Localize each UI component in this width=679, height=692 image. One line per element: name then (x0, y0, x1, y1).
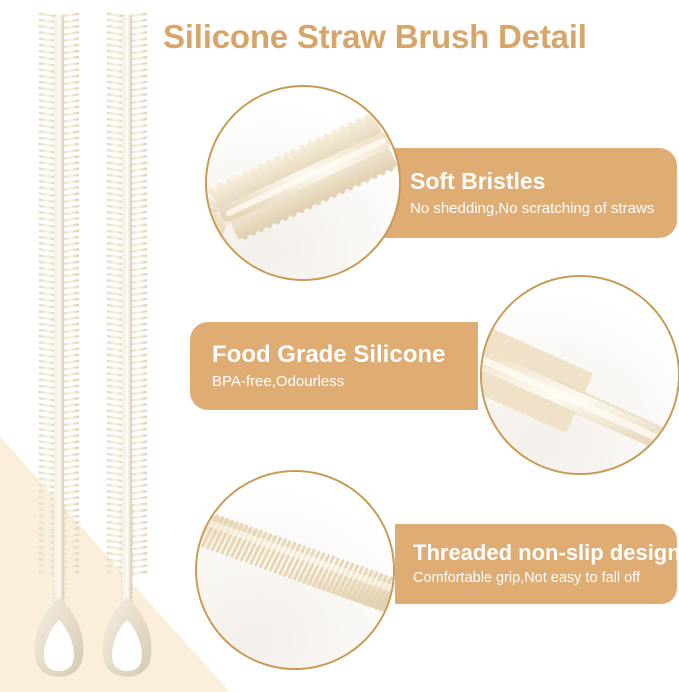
feature-title: Food Grade Silicone (212, 342, 478, 368)
feature-photo-food-grade-silicone (482, 277, 678, 473)
feature-banner-threaded-non-slip-design: Threaded non-slip design Comfortable gri… (395, 524, 677, 604)
feature-title: Threaded non-slip design (413, 541, 677, 565)
feature-banner-soft-bristles: Soft Bristles No shedding,No scratching … (372, 148, 677, 238)
product-infographic: Silicone Straw Brush Detail (0, 0, 679, 692)
feature-photo-soft-bristles (207, 87, 399, 279)
photo-canvas (197, 472, 393, 668)
product-brush-right (82, 6, 172, 686)
feature-subtitle: BPA-free,Odourless (212, 373, 478, 390)
photo-canvas (482, 277, 678, 473)
feature-title: Soft Bristles (410, 169, 677, 194)
feature-photo-threaded-non-slip-design (197, 472, 393, 668)
bristle-handle-transition-illustration (482, 277, 678, 473)
bristle-head-illustration (207, 87, 399, 279)
photo-canvas (207, 87, 399, 279)
threaded-handle-illustration (197, 472, 393, 668)
page-title: Silicone Straw Brush Detail (163, 18, 679, 57)
feature-subtitle: Comfortable grip,Not easy to fall off (413, 570, 677, 587)
feature-subtitle: No shedding,No scratching of straws (410, 200, 677, 217)
feature-banner-food-grade-silicone: Food Grade Silicone BPA-free,Odourless (190, 322, 478, 410)
